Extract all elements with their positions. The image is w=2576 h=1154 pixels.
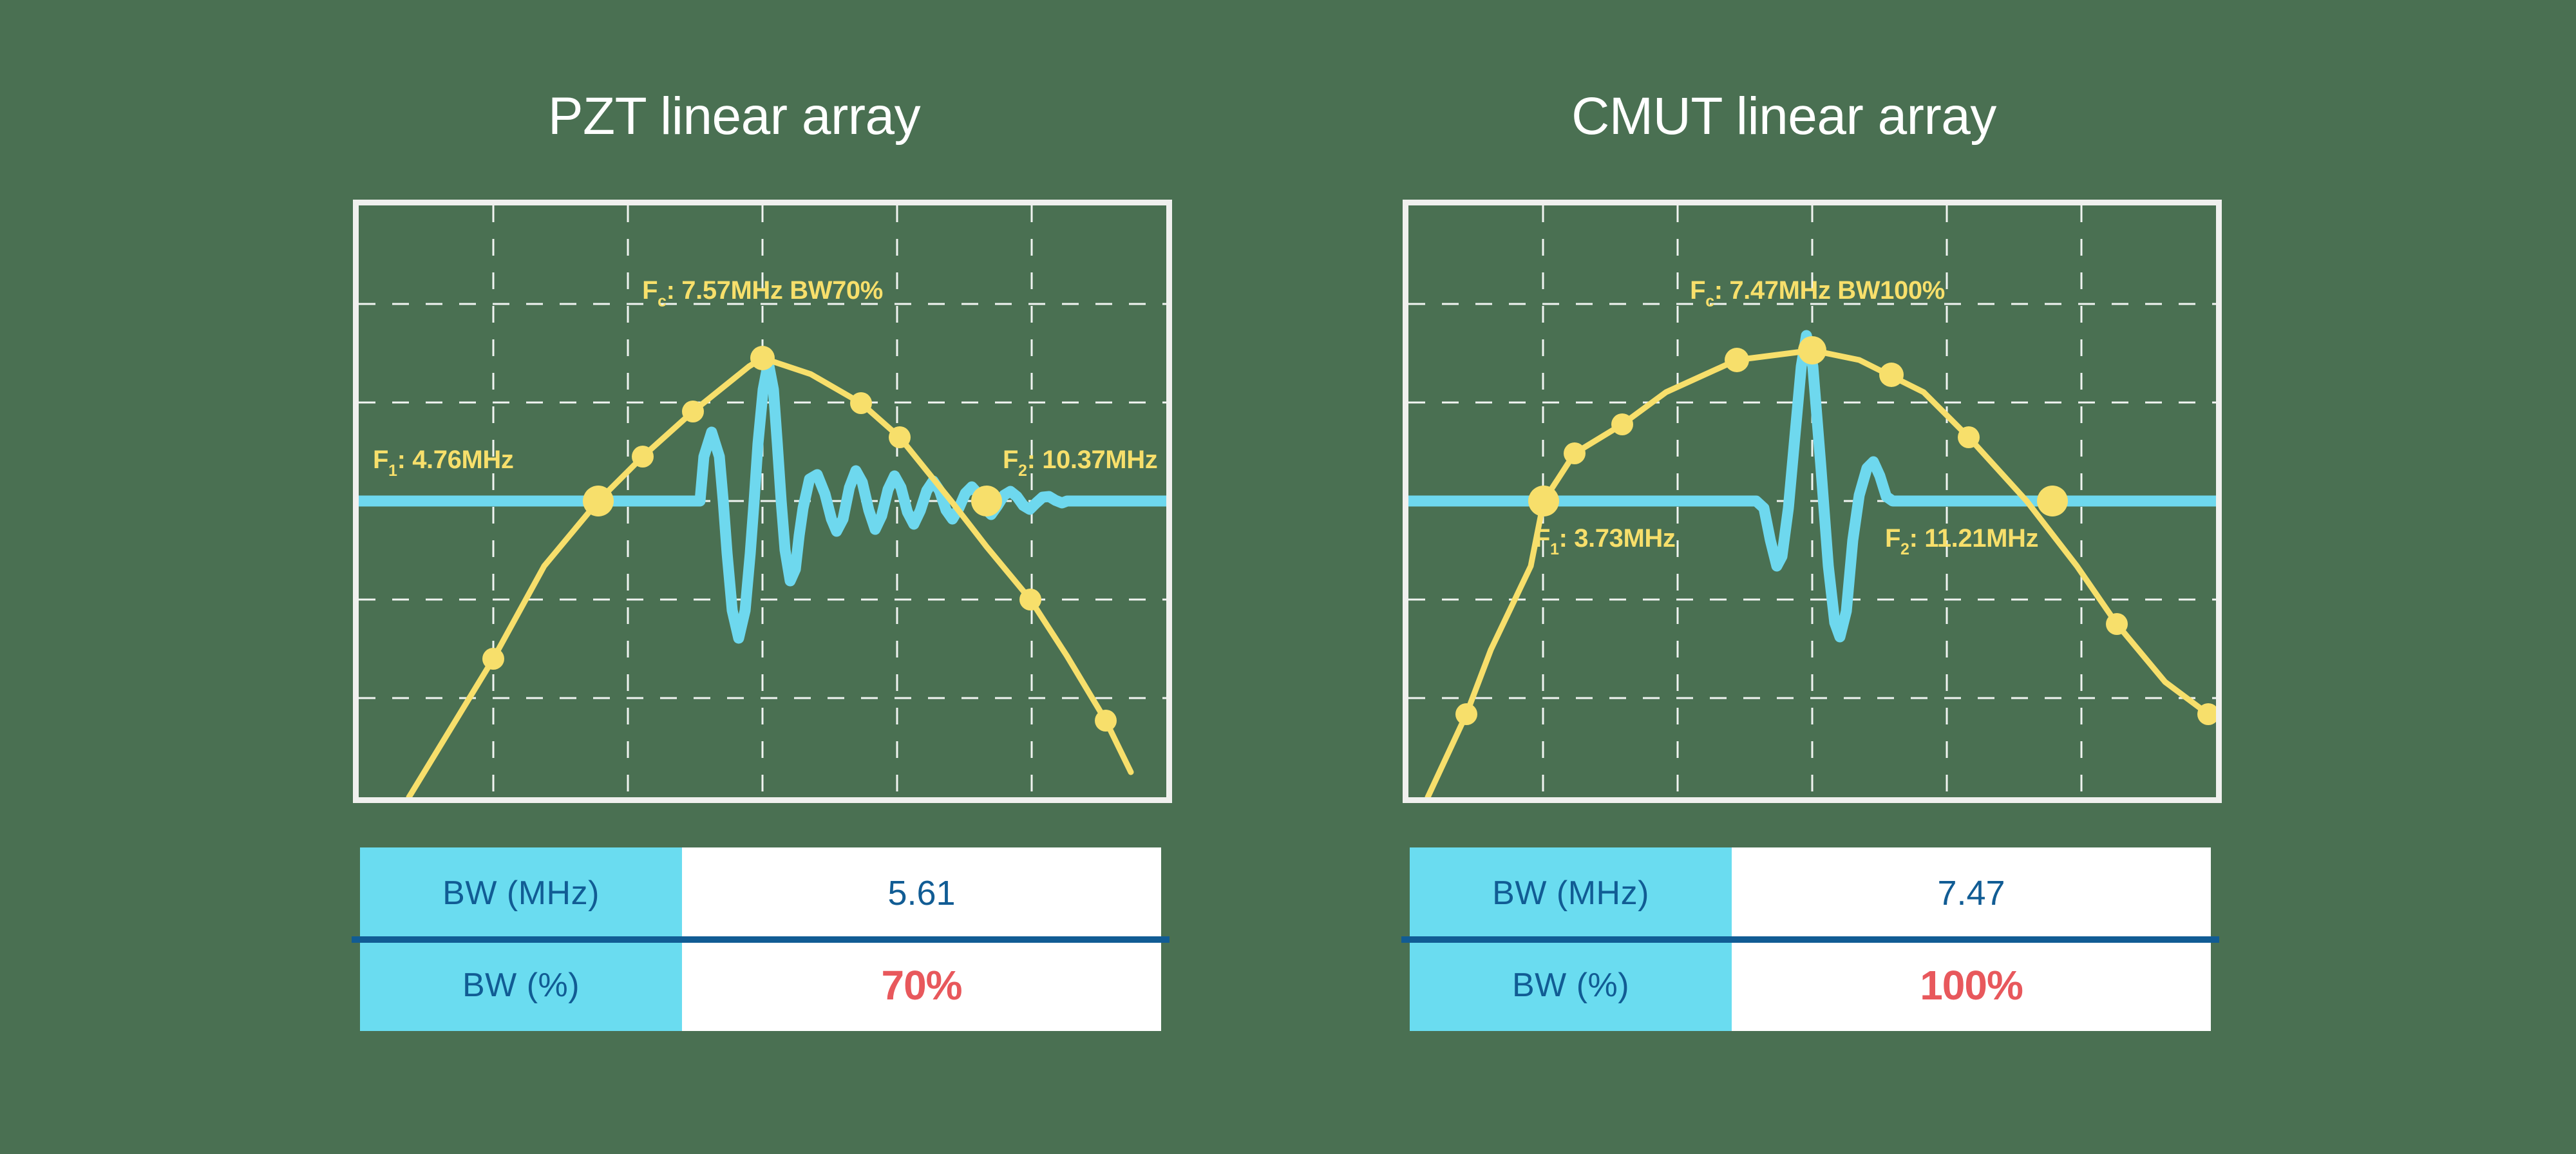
panel-title-pzt: PZT linear array [277, 90, 1191, 143]
table-header-bw-percent: BW (%) [1410, 940, 1732, 1032]
annotation-f2-cmut: F2: 11.21MHz [1885, 524, 2038, 558]
table-value-bw-percent: 70% [682, 940, 1161, 1032]
table-divider [352, 936, 1170, 943]
annotation-f1-prefix-pzt: F [373, 446, 388, 474]
annotation-fc-rest-cmut: : 7.47MHz BW100% [1714, 276, 1945, 305]
annotation-f2-prefix-cmut: F [1885, 524, 1900, 553]
bandwidth-table-pzt: BW (MHz) 5.61 BW (%) 70% [360, 847, 1161, 1031]
table-value-bw-mhz: 7.47 [1732, 847, 2211, 940]
annotation-fc-subscript-cmut: c [1705, 292, 1714, 310]
annotation-f2-rest-cmut: : 11.21MHz [1909, 524, 2039, 553]
annotation-f1-rest-cmut: : 3.73MHz [1559, 524, 1676, 553]
panel-pzt: PZT linear array [277, 0, 1243, 1154]
annotation-center-frequency-pzt: Fc: 7.57MHz BW70% [642, 276, 883, 310]
annotation-center-frequency-cmut: Fc: 7.47MHz BW100% [1690, 276, 1945, 310]
svg-text:Fc: 7.47MHz BW100%: Fc: 7.47MHz BW100% [1690, 276, 1945, 310]
chart-frame-cmut: Fc: 7.47MHz BW100% F1: 3.73MHz F2: 11.21… [1403, 200, 2222, 803]
annotation-fc-prefix-pzt: F [642, 276, 658, 305]
table-row: BW (MHz) 7.47 [1410, 847, 2211, 940]
chart-svg-pzt: Fc: 7.57MHz BW70% F1: 4.76MHz F2: 10.37M… [359, 205, 1166, 797]
svg-text:F2: 11.21MHz: F2: 11.21MHz [1885, 524, 2038, 558]
annotation-f1-subscript-pzt: 1 [388, 462, 397, 480]
annotation-f1-cmut: F1: 3.73MHz [1535, 524, 1675, 558]
annotation-f1-prefix-cmut: F [1535, 524, 1550, 553]
table-row: BW (%) 70% [360, 940, 1161, 1032]
table-row: BW (%) 100% [1410, 940, 2211, 1032]
annotation-f1-rest-pzt: : 4.76MHz [397, 446, 514, 474]
svg-text:Fc: 7.57MHz BW70%: Fc: 7.57MHz BW70% [642, 276, 883, 310]
annotation-f1-subscript-cmut: 1 [1550, 540, 1559, 558]
table-row: BW (MHz) 5.61 [360, 847, 1161, 940]
chart-svg-cmut: Fc: 7.47MHz BW100% F1: 3.73MHz F2: 11.21… [1408, 205, 2216, 797]
table-header-bw-mhz: BW (MHz) [1410, 847, 1732, 940]
table-header-bw-mhz: BW (MHz) [360, 847, 682, 940]
annotation-fc-rest-pzt: : 7.57MHz BW70% [667, 276, 883, 305]
table-value-bw-mhz: 5.61 [682, 847, 1161, 940]
panel-title-cmut: CMUT linear array [1327, 90, 2241, 143]
chart-plot-area-pzt: Fc: 7.57MHz BW70% F1: 4.76MHz F2: 10.37M… [359, 205, 1166, 797]
annotation-f2-rest-pzt: : 10.37MHz [1027, 446, 1158, 474]
panel-cmut: CMUT linear array [1327, 0, 2293, 1154]
annotation-f2-subscript-pzt: 2 [1018, 462, 1027, 480]
annotation-f2-subscript-cmut: 2 [1900, 540, 1909, 558]
bandwidth-table-cmut: BW (MHz) 7.47 BW (%) 100% [1410, 847, 2211, 1031]
svg-text:F1: 3.73MHz: F1: 3.73MHz [1535, 524, 1675, 558]
comparison-figure: PZT linear array [0, 0, 2576, 1154]
annotation-f2-pzt: F2: 10.37MHz [1003, 446, 1157, 480]
annotation-fc-prefix-cmut: F [1690, 276, 1705, 305]
table-value-bw-percent: 100% [1732, 940, 2211, 1032]
chart-frame-pzt: Fc: 7.57MHz BW70% F1: 4.76MHz F2: 10.37M… [353, 200, 1172, 803]
annotation-fc-subscript-pzt: c [658, 292, 667, 310]
svg-text:F2: 10.37MHz: F2: 10.37MHz [1003, 446, 1157, 480]
table-header-bw-percent: BW (%) [360, 940, 682, 1032]
frequency-response-curve-pzt [409, 358, 1131, 797]
annotation-f2-prefix-pzt: F [1003, 446, 1018, 474]
chart-plot-area-cmut: Fc: 7.47MHz BW100% F1: 3.73MHz F2: 11.21… [1408, 205, 2216, 797]
table-divider [1401, 936, 2219, 943]
